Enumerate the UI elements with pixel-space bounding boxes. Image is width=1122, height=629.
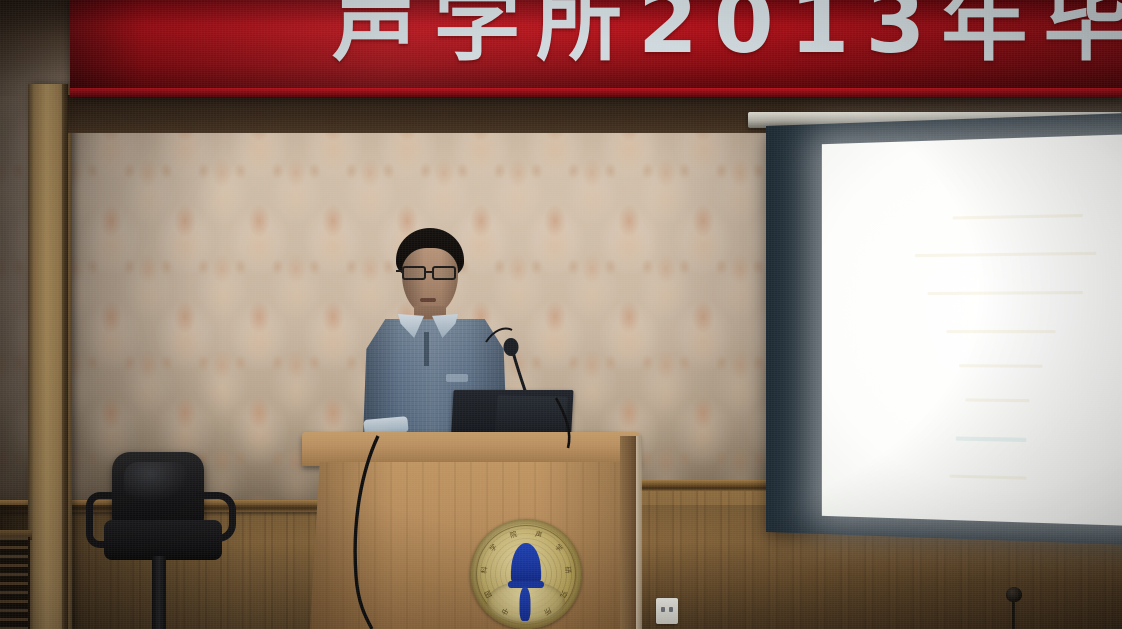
eyeglass-lens-left <box>402 266 426 280</box>
photograph-scene: 中国科学院声学研究所 声学所2013年毕 <box>0 0 1122 629</box>
emblem-rim-char: 中 <box>499 605 510 617</box>
emblem-rim-char: 科 <box>479 566 490 574</box>
emblem-rim-char: 所 <box>541 605 552 617</box>
institute-emblem: 中国科学院声学研究所 <box>470 519 582 629</box>
shirt-chest-logo <box>446 374 468 382</box>
wall-outlet <box>656 598 678 624</box>
office-chair-seat <box>104 520 222 560</box>
banner-bottom-edge <box>70 88 1122 97</box>
red-event-banner: 声学所2013年毕 <box>70 0 1122 95</box>
eyeglass-lens-right <box>432 266 456 280</box>
emblem-rim-characters: 中国科学院声学研究所 <box>470 519 582 629</box>
emblem-rim-char: 声 <box>533 529 543 541</box>
emblem-rim-char: 院 <box>509 529 519 541</box>
podium-top-ledge <box>302 432 640 466</box>
emblem-rim-char: 学 <box>488 542 500 554</box>
emblem-rim-char: 究 <box>557 588 569 599</box>
office-chair-backrest-highlight <box>124 462 188 502</box>
presenter-mouth <box>420 298 436 302</box>
podium-edge-highlight <box>636 436 642 629</box>
banner-text: 声学所2013年毕 <box>332 0 1122 68</box>
eyeglass-temple <box>396 270 404 272</box>
office-chair-post <box>152 556 166 629</box>
emblem-rim-char: 国 <box>482 588 494 599</box>
shirt-placket <box>424 332 429 366</box>
emblem-rim-char: 学 <box>552 542 564 554</box>
eyeglasses <box>400 266 460 281</box>
presenter-face-shading <box>402 248 458 314</box>
eyeglass-bridge <box>426 271 434 273</box>
emblem-rim-char: 研 <box>562 566 573 574</box>
wall-knob-stem <box>1012 600 1015 629</box>
